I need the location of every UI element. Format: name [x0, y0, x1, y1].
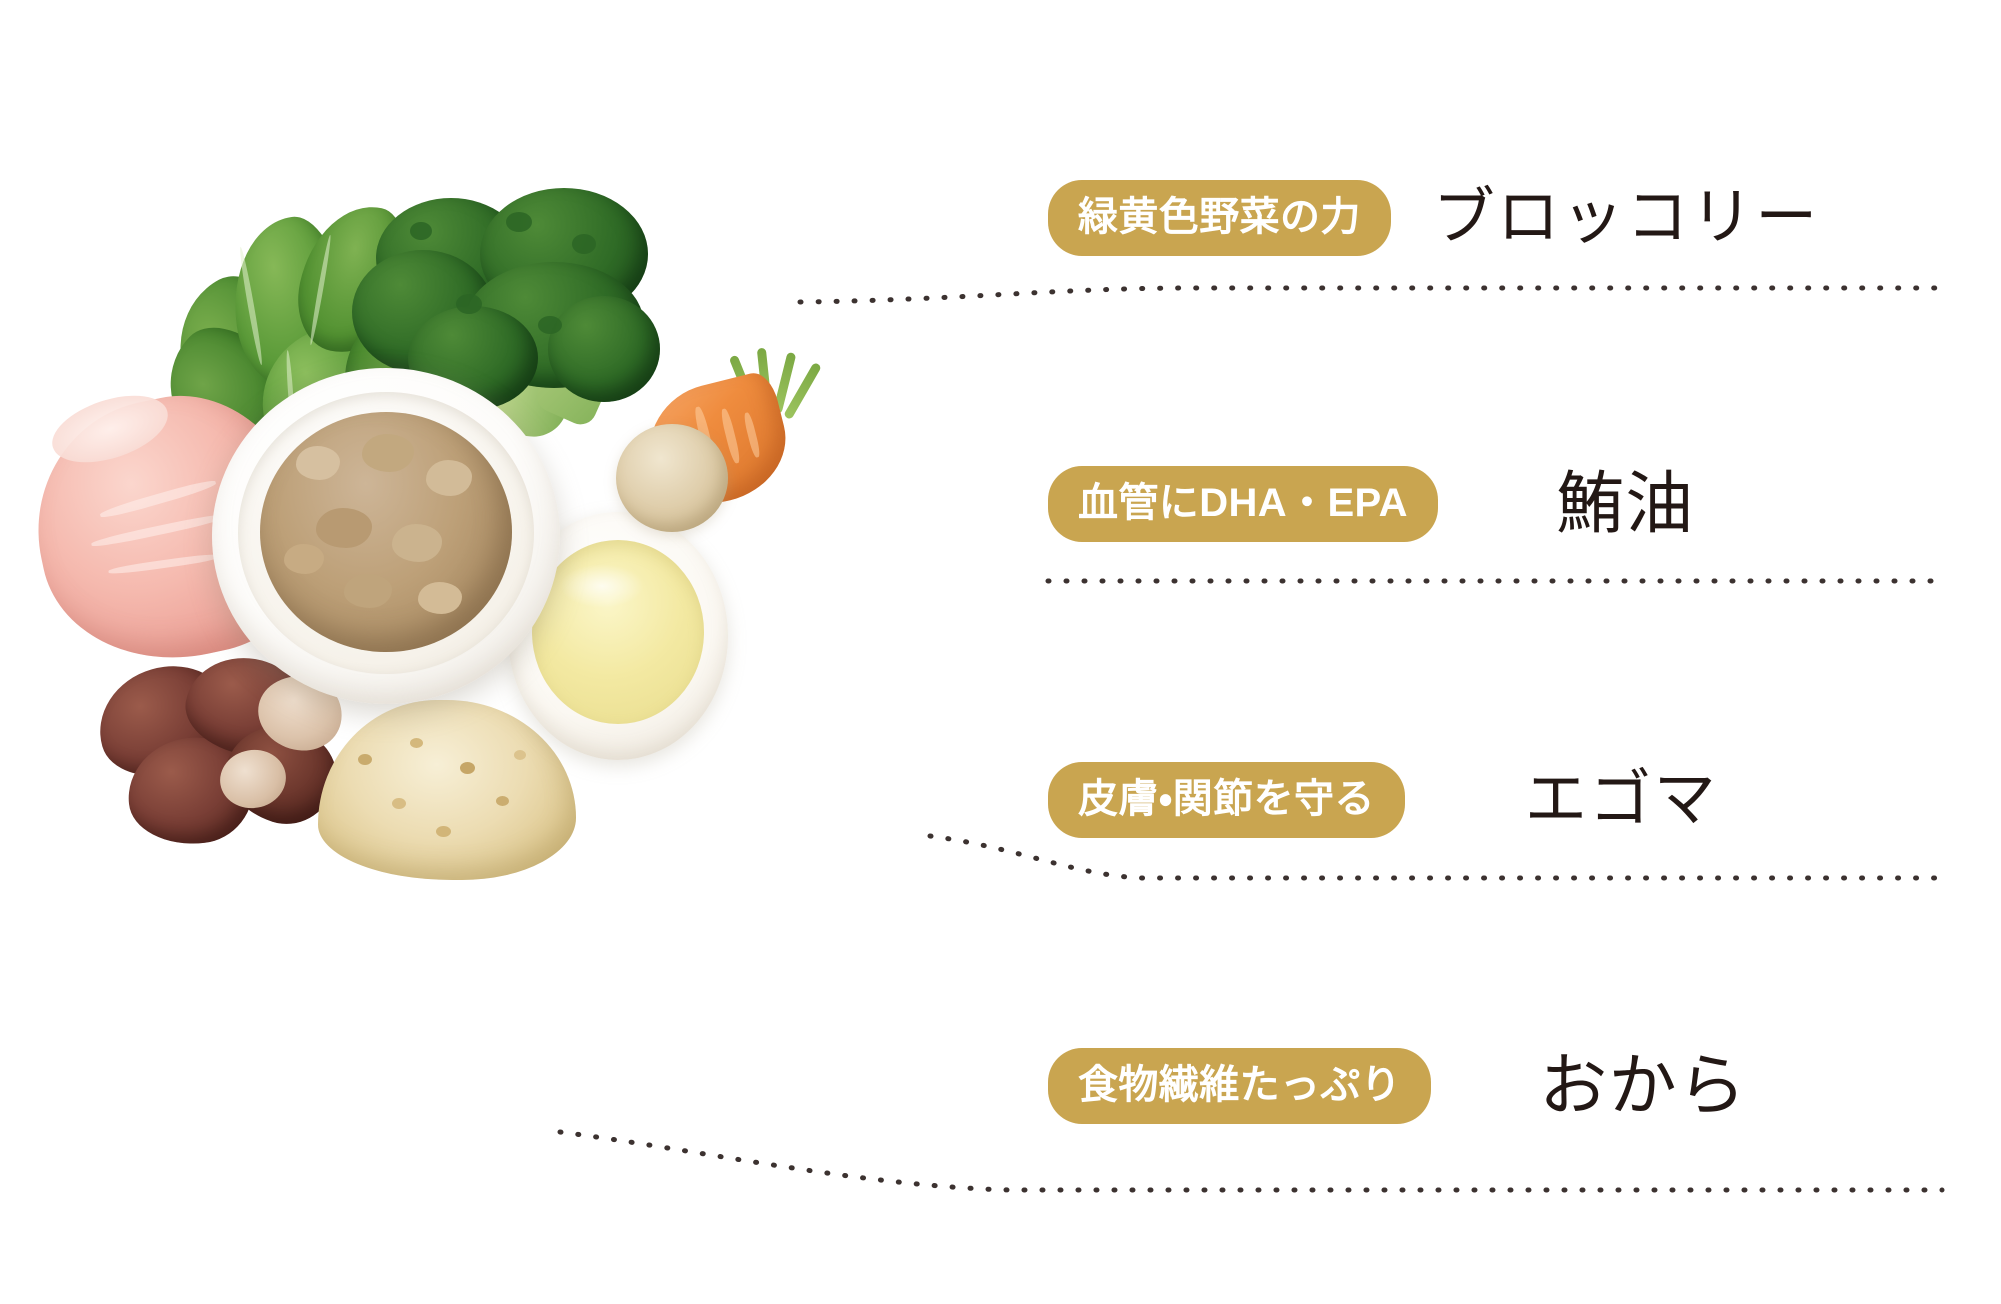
- badge-broccoli: 緑黄色野菜の力: [1048, 180, 1391, 256]
- badge-tuna-oil: 血管にDHA・EPA: [1048, 466, 1438, 542]
- ingredient-row-okara: 食物繊維たっぷり おから: [1048, 1048, 1747, 1124]
- badge-okara: 食物繊維たっぷり: [1048, 1048, 1431, 1124]
- ingredient-title-okara: おから: [1539, 1052, 1747, 1120]
- badge-egoma: 皮膚・関節を守る: [1048, 762, 1405, 838]
- ingredient-title-broccoli: ブロッコリー: [1433, 187, 1820, 249]
- ingredient-row-tuna-oil: 血管にDHA・EPA 鮪油: [1048, 466, 1695, 542]
- ingredient-highlight-panel: Assorted dog-food ingredients photograph…: [0, 0, 2001, 1304]
- ingredient-label-list: 緑黄色野菜の力 ブロッコリー 血管にDHA・EPA 鮪油 皮膚・関節を守る エゴ…: [0, 0, 2001, 1304]
- ingredient-row-broccoli: 緑黄色野菜の力 ブロッコリー: [1048, 180, 1820, 256]
- ingredient-title-tuna-oil: 鮪油: [1556, 470, 1695, 538]
- ingredient-row-egoma: 皮膚・関節を守る エゴマ: [1048, 762, 1718, 838]
- ingredient-title-egoma: エゴマ: [1525, 769, 1718, 831]
